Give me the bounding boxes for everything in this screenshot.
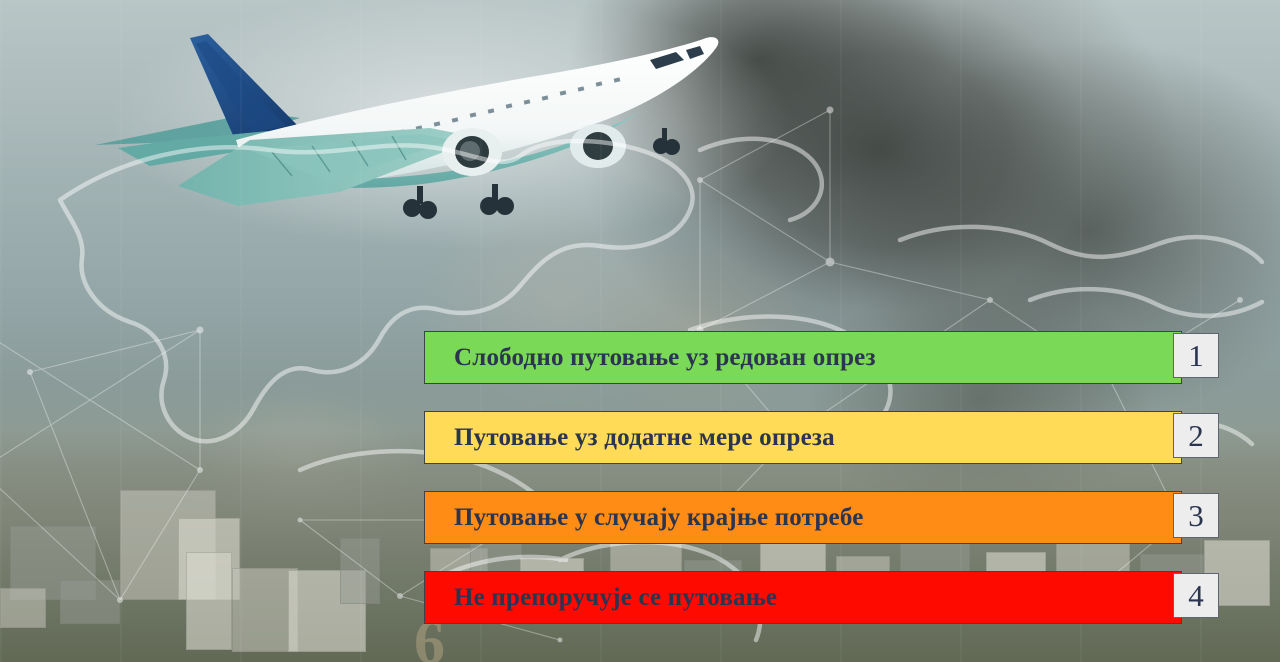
level-3-number-box: 3: [1173, 493, 1219, 538]
level-1-label: Слободно путовање уз редован опрез: [425, 344, 876, 372]
level-1-bar: Слободно путовање уз редован опрез: [424, 331, 1182, 384]
level-4-label: Не препоручује се путовање: [425, 584, 777, 612]
travel-advisory-graphic: 6 Слободно путовање уз редован опрез 1 П…: [0, 0, 1280, 662]
level-2-bar: Путовање уз додатне мере опреза: [424, 411, 1182, 464]
level-2-label: Путовање уз додатне мере опреза: [425, 424, 835, 452]
level-2-number: 2: [1188, 418, 1204, 454]
level-3-bar: Путовање у случају крајње потребе: [424, 491, 1182, 544]
level-1-number-box: 1: [1173, 333, 1219, 378]
level-2-number-box: 2: [1173, 413, 1219, 458]
advisory-level-list: Слободно путовање уз редован опрез 1 Пут…: [424, 331, 1219, 651]
level-4-number: 4: [1188, 578, 1204, 614]
level-1-number: 1: [1188, 338, 1204, 374]
advisory-level-row-4[interactable]: Не препоручује се путовање 4: [424, 571, 1219, 624]
advisory-level-row-2[interactable]: Путовање уз додатне мере опреза 2: [424, 411, 1219, 464]
level-4-number-box: 4: [1173, 573, 1219, 618]
level-3-number: 3: [1188, 498, 1204, 534]
level-3-label: Путовање у случају крајње потребе: [425, 504, 864, 532]
level-4-bar: Не препоручује се путовање: [424, 571, 1182, 624]
advisory-level-row-3[interactable]: Путовање у случају крајње потребе 3: [424, 491, 1219, 544]
advisory-level-row-1[interactable]: Слободно путовање уз редован опрез 1: [424, 331, 1219, 384]
